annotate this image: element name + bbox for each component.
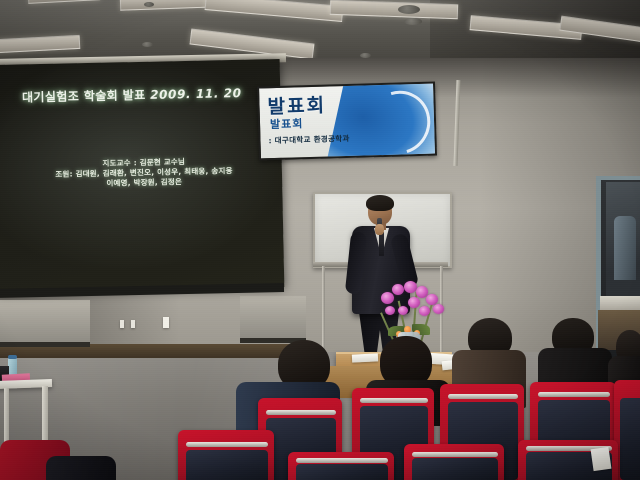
ceiling-vent-icon (404, 18, 422, 25)
slide-title-date: 2009. 11. 20 (150, 86, 242, 102)
side-table-leg (4, 388, 9, 444)
person-in-doorway (614, 216, 636, 280)
chair-top-bar (448, 394, 518, 399)
wall-switch-icon (163, 317, 169, 328)
event-banner: 발표회 발표회 : 대구대학교 환경공학과 (257, 82, 437, 161)
handout-paper (591, 447, 612, 471)
chair-top-bar (296, 458, 388, 463)
orchid-bloom (385, 306, 395, 315)
smoke-detector-icon (144, 2, 154, 7)
chair-top-bar (538, 392, 610, 397)
wall-outlet-icon (131, 320, 135, 328)
chair-seat-pad (620, 398, 640, 480)
chair-top-bar (266, 410, 336, 415)
document-paper (352, 353, 378, 362)
orchid-bloom (408, 297, 420, 308)
presenter-hair (366, 195, 394, 211)
chair-seat-pad (186, 450, 268, 480)
smoke-detector-icon (142, 42, 153, 47)
orchid-bloom (392, 284, 404, 295)
foreground-object-dark (46, 456, 116, 480)
banner-line-2: 발표회 (270, 115, 304, 132)
bottle-cap (8, 355, 17, 359)
chair-top-bar (412, 452, 498, 457)
ceiling-speaker-icon (398, 5, 420, 14)
wall-outlet-icon (120, 320, 124, 328)
slide-body-block: 지도교수 : 김문현 교수님 조원: 김대원, 김래환, 변진오, 이성우, 최… (18, 155, 271, 190)
orchid-bloom (381, 292, 394, 304)
orchid-bloom (398, 306, 408, 315)
presenter-necktie (379, 232, 384, 256)
chair-seat-pad (412, 458, 498, 480)
chair-top-bar (186, 442, 268, 447)
orchid-bloom (419, 306, 430, 316)
chair-seat-pad (296, 464, 388, 480)
wall-panel-left (0, 300, 90, 347)
chair-top-bar (360, 398, 428, 403)
photo-lecture-hall-presentation: 대기실험조 학술회 발표 2009. 11. 20 지도교수 : 김문현 교수님… (0, 0, 640, 480)
whiteboard-leg (322, 266, 325, 358)
wall-panel-right (240, 296, 306, 343)
orchid-bloom (433, 304, 444, 314)
slide-title-text: 대기실험조 학술회 발표 (22, 88, 146, 105)
presenter-hand (375, 224, 384, 235)
banner-line-3: : 대구대학교 환경공학과 (268, 133, 349, 146)
